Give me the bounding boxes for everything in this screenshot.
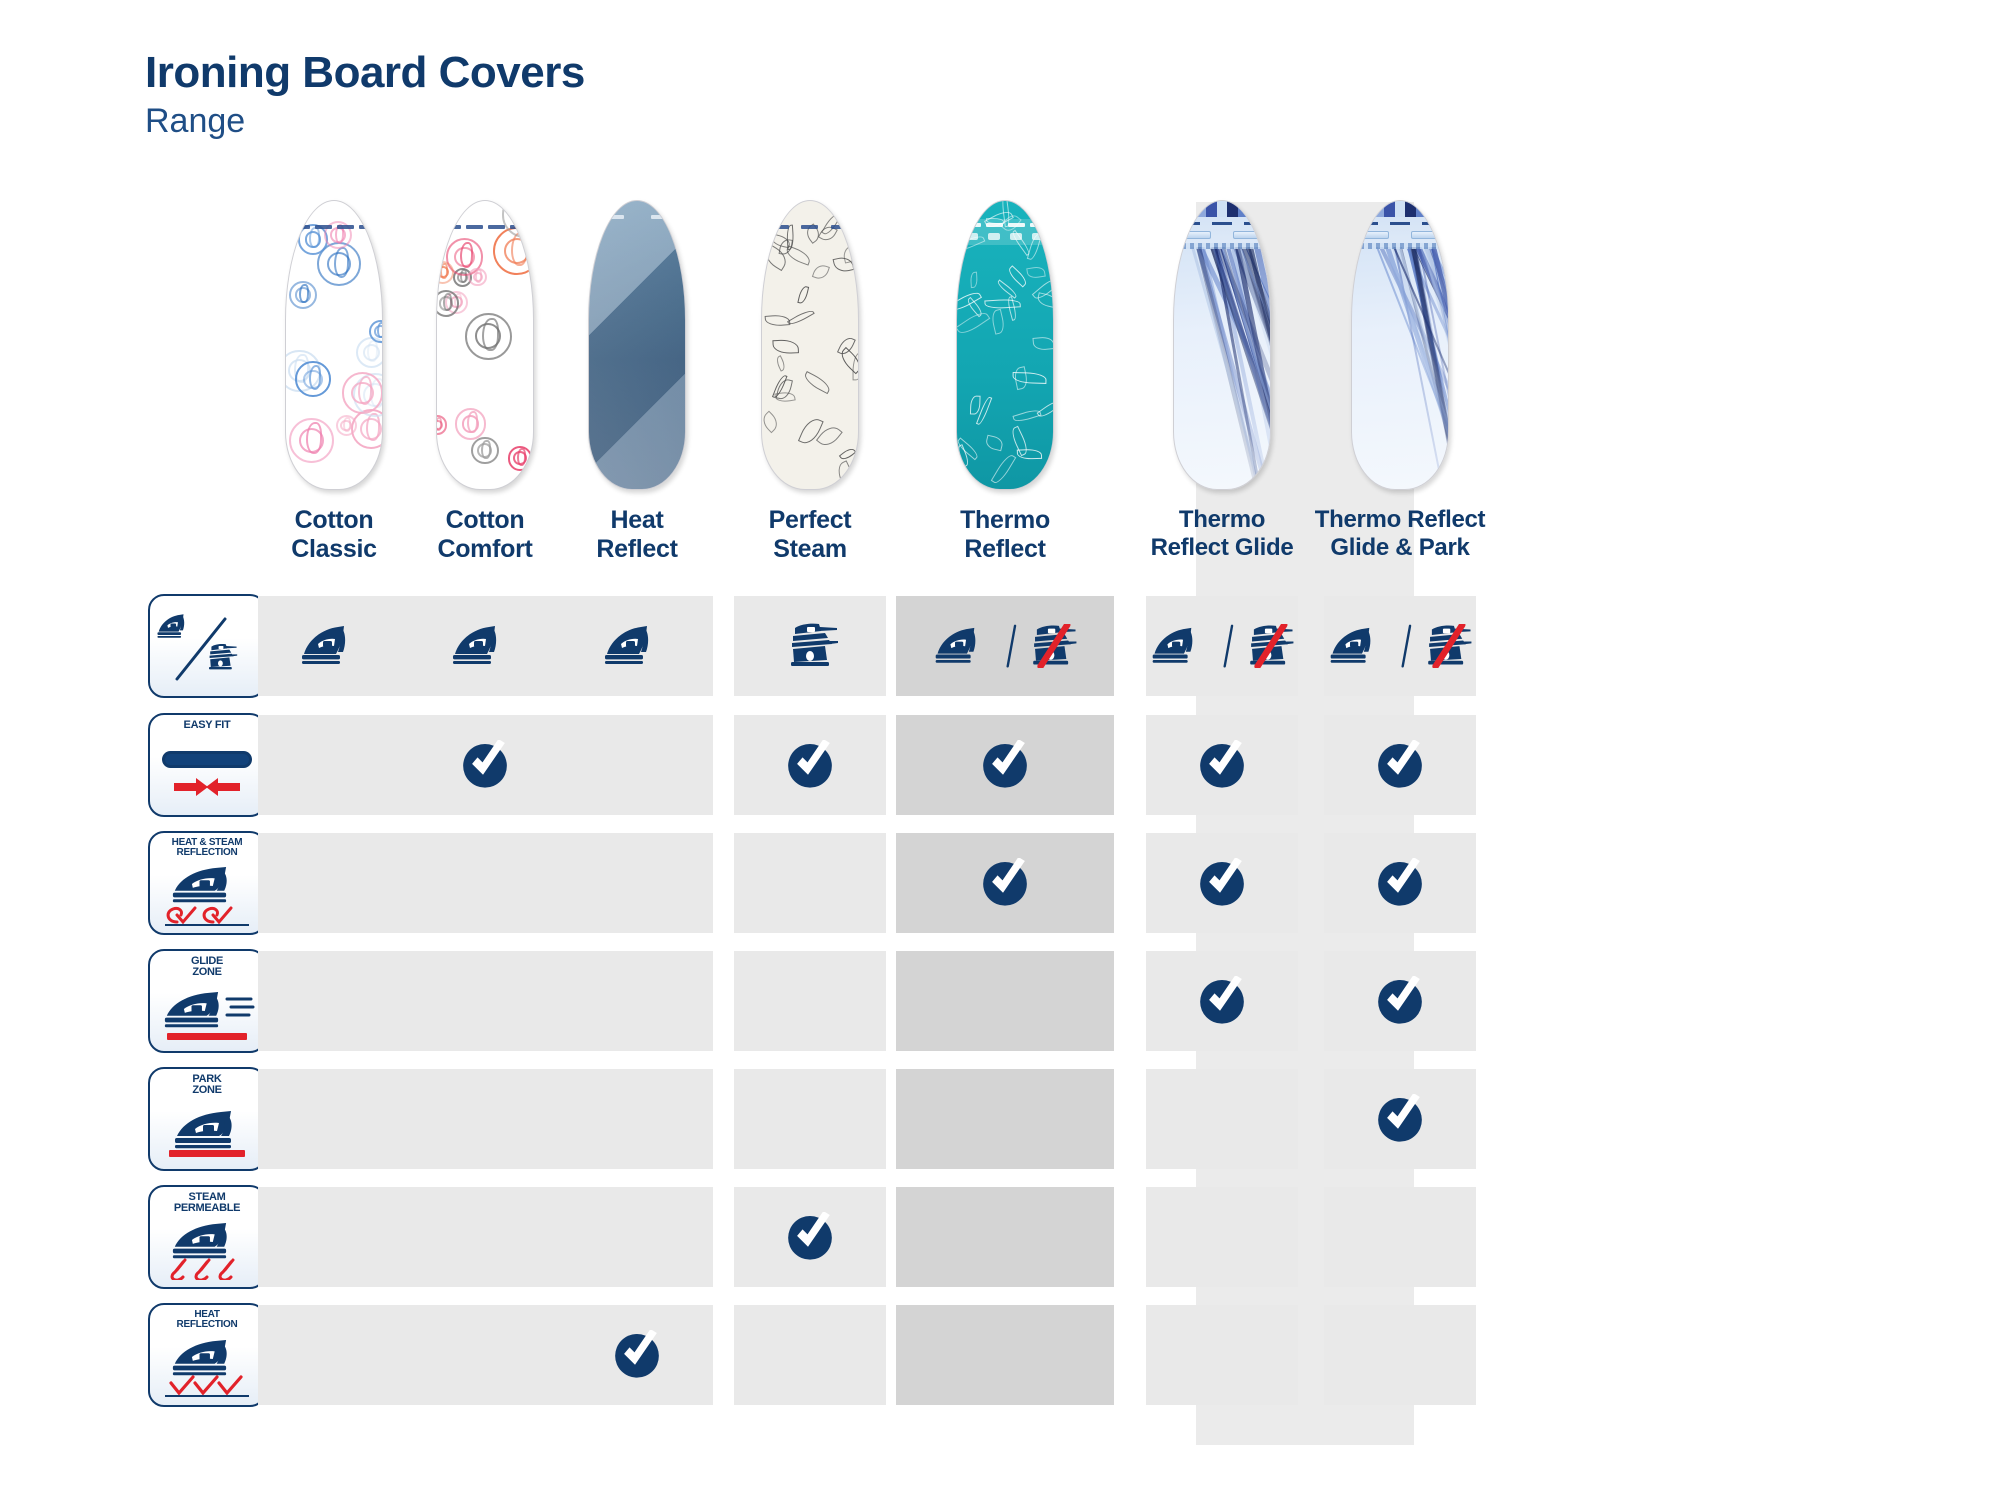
cell-glide-zone-perfect-steam[interactable] (734, 951, 886, 1051)
cell-steam-permeable-perfect-steam[interactable] (734, 1187, 886, 1287)
board-image-thermo-reflect (956, 200, 1054, 490)
cell-easy-fit-thermo-reflect[interactable] (896, 715, 1114, 815)
cell-glide-zone-thermo-reflect-glide[interactable] (1146, 951, 1298, 1051)
dry-iron-or-no-steam-icon (1327, 624, 1472, 668)
column-title-line1: Cotton (295, 506, 374, 534)
cell-park-zone-thermo-reflect-glide[interactable] (1146, 1069, 1298, 1169)
board-image-thermo-reflect-glide (1173, 200, 1271, 490)
cell-heat-reflection-thermo-reflect-glide[interactable] (1146, 1305, 1298, 1405)
glide-zone-icon: GLIDEZONE (148, 949, 266, 1053)
dry-iron-or-steam-iron-icon-art (150, 601, 264, 696)
cell-iron-type-heat-reflect[interactable] (561, 596, 713, 696)
cell-heat-reflection-thermo-glide-park[interactable] (1324, 1305, 1476, 1405)
cell-steam-permeable-cotton-comfort[interactable] (409, 1187, 561, 1287)
column-title-line2: Steam (773, 535, 847, 563)
column-title-perfect-steam: Perfect Steam (769, 506, 852, 564)
cell-heat-steam-reflection-heat-reflect[interactable] (561, 833, 713, 933)
cell-heat-reflection-heat-reflect[interactable] (561, 1305, 713, 1405)
cell-glide-zone-thermo-reflect[interactable] (896, 951, 1114, 1051)
cell-iron-type-thermo-reflect-glide[interactable] (1146, 596, 1298, 696)
cell-steam-permeable-cotton-classic[interactable] (258, 1187, 410, 1287)
cell-heat-steam-reflection-perfect-steam[interactable] (734, 833, 886, 933)
column-header-thermo-reflect: Thermo Reflect (896, 200, 1114, 580)
column-title-line2: Reflect (964, 535, 1045, 563)
column-title-line2: Classic (291, 535, 376, 563)
easy-fit-icon: EASY FIT (148, 713, 266, 817)
cell-heat-steam-reflection-thermo-reflect-glide[interactable] (1146, 833, 1298, 933)
dry-iron-or-steam-iron-icon (148, 594, 266, 698)
column-title-line2: Comfort (437, 535, 532, 563)
board-image-thermo-glide-park (1351, 200, 1449, 490)
cell-heat-reflection-cotton-comfort[interactable] (409, 1305, 561, 1405)
column-title-thermo-reflect: Thermo Reflect (960, 506, 1050, 564)
column-header-perfect-steam: Perfect Steam (701, 200, 919, 580)
column-title-line2: Reflect (596, 535, 677, 563)
board-wrap-thermo-reflect (896, 200, 1114, 500)
cell-heat-steam-reflection-cotton-comfort[interactable] (409, 833, 561, 933)
cell-park-zone-thermo-glide-park[interactable] (1324, 1069, 1476, 1169)
park-zone-icon: PARKZONE (148, 1067, 266, 1171)
cell-easy-fit-heat-reflect[interactable] (561, 715, 713, 815)
cell-park-zone-heat-reflect[interactable] (561, 1069, 713, 1169)
steam-generator-icon (781, 622, 839, 670)
cell-glide-zone-cotton-comfort[interactable] (409, 951, 561, 1051)
row-caption-line2: PERMEABLE (174, 1203, 240, 1214)
comparison-grid: Cotton Classic Cotton Comfort Heat Refle… (0, 0, 2000, 1500)
cell-easy-fit-thermo-glide-park[interactable] (1324, 715, 1476, 815)
heat-and-steam-reflection-icon-art (150, 858, 264, 933)
board-wrap-perfect-steam (701, 200, 919, 500)
board-image-cotton-comfort (436, 200, 534, 490)
board-image-perfect-steam (761, 200, 859, 490)
cell-steam-permeable-heat-reflect[interactable] (561, 1187, 713, 1287)
row-caption-line2: REFLECTION (177, 848, 238, 858)
dry-iron-icon (601, 624, 673, 668)
board-wrap-thermo-glide-park (1291, 200, 1509, 500)
dry-iron-or-no-steam-icon (932, 624, 1077, 668)
column-title-line1: Thermo Reflect (1315, 506, 1486, 533)
row-caption-line1: EASY FIT (184, 720, 231, 731)
easy-fit-icon-art (150, 731, 264, 815)
cell-iron-type-thermo-glide-park[interactable] (1324, 596, 1476, 696)
cell-iron-type-perfect-steam[interactable] (734, 596, 886, 696)
row-caption-line2: ZONE (192, 967, 221, 978)
cell-easy-fit-cotton-classic[interactable] (258, 715, 410, 815)
steam-permeable-icon-art (150, 1214, 264, 1287)
cell-park-zone-cotton-classic[interactable] (258, 1069, 410, 1169)
cell-heat-steam-reflection-cotton-classic[interactable] (258, 833, 410, 933)
cell-heat-steam-reflection-thermo-reflect[interactable] (896, 833, 1114, 933)
cell-heat-reflection-cotton-classic[interactable] (258, 1305, 410, 1405)
column-title-line1: Heat (610, 506, 663, 534)
column-title-thermo-glide-park: Thermo Reflect Glide & Park (1315, 506, 1486, 561)
steam-permeable-icon: STEAMPERMEABLE (148, 1185, 266, 1289)
cell-park-zone-perfect-steam[interactable] (734, 1069, 886, 1169)
park-zone-icon-art (150, 1096, 264, 1169)
column-header-thermo-glide-park: Thermo Reflect Glide & Park (1291, 200, 1509, 580)
board-image-heat-reflect (588, 200, 686, 490)
dry-iron-icon (298, 624, 370, 668)
column-title-line2: Glide & Park (1330, 534, 1469, 561)
cell-easy-fit-thermo-reflect-glide[interactable] (1146, 715, 1298, 815)
cell-steam-permeable-thermo-reflect[interactable] (896, 1187, 1114, 1287)
column-title-cotton-classic: Cotton Classic (291, 506, 376, 564)
cell-iron-type-cotton-classic[interactable] (258, 596, 410, 696)
cell-heat-reflection-thermo-reflect[interactable] (896, 1305, 1114, 1405)
cell-steam-permeable-thermo-reflect-glide[interactable] (1146, 1187, 1298, 1287)
row-caption-line2: REFLECTION (177, 1320, 238, 1330)
glide-zone-icon-art (150, 978, 264, 1051)
cell-glide-zone-cotton-classic[interactable] (258, 951, 410, 1051)
column-title-thermo-reflect-glide: Thermo Reflect Glide (1151, 506, 1294, 561)
column-title-cotton-comfort: Cotton Comfort (437, 506, 532, 564)
cell-easy-fit-cotton-comfort[interactable] (409, 715, 561, 815)
heat-reflection-icon: HEATREFLECTION (148, 1303, 266, 1407)
heat-and-steam-reflection-icon: HEAT & STEAMREFLECTION (148, 831, 266, 935)
column-title-line1: Perfect (769, 506, 852, 534)
dry-iron-or-no-steam-icon (1149, 624, 1294, 668)
row-caption-line2: ZONE (192, 1085, 221, 1096)
column-title-heat-reflect: Heat Reflect (596, 506, 677, 564)
column-title-line1: Cotton (446, 506, 525, 534)
cell-park-zone-thermo-reflect[interactable] (896, 1069, 1114, 1169)
cell-heat-steam-reflection-thermo-glide-park[interactable] (1324, 833, 1476, 933)
comparison-page: Ironing Board Covers Range Cotton Classi… (0, 0, 2000, 1500)
heat-reflection-icon-art (150, 1330, 264, 1405)
cell-iron-type-cotton-comfort[interactable] (409, 596, 561, 696)
column-title-line1: Thermo (1179, 506, 1265, 533)
cell-glide-zone-heat-reflect[interactable] (561, 951, 713, 1051)
cell-easy-fit-perfect-steam[interactable] (734, 715, 886, 815)
cell-park-zone-cotton-comfort[interactable] (409, 1069, 561, 1169)
cell-glide-zone-thermo-glide-park[interactable] (1324, 951, 1476, 1051)
column-title-line1: Thermo (960, 506, 1050, 534)
dry-iron-icon (449, 624, 521, 668)
cell-steam-permeable-thermo-glide-park[interactable] (1324, 1187, 1476, 1287)
cell-heat-reflection-perfect-steam[interactable] (734, 1305, 886, 1405)
column-title-line2: Reflect Glide (1151, 534, 1294, 561)
board-image-cotton-classic (285, 200, 383, 490)
cell-iron-type-thermo-reflect[interactable] (896, 596, 1114, 696)
